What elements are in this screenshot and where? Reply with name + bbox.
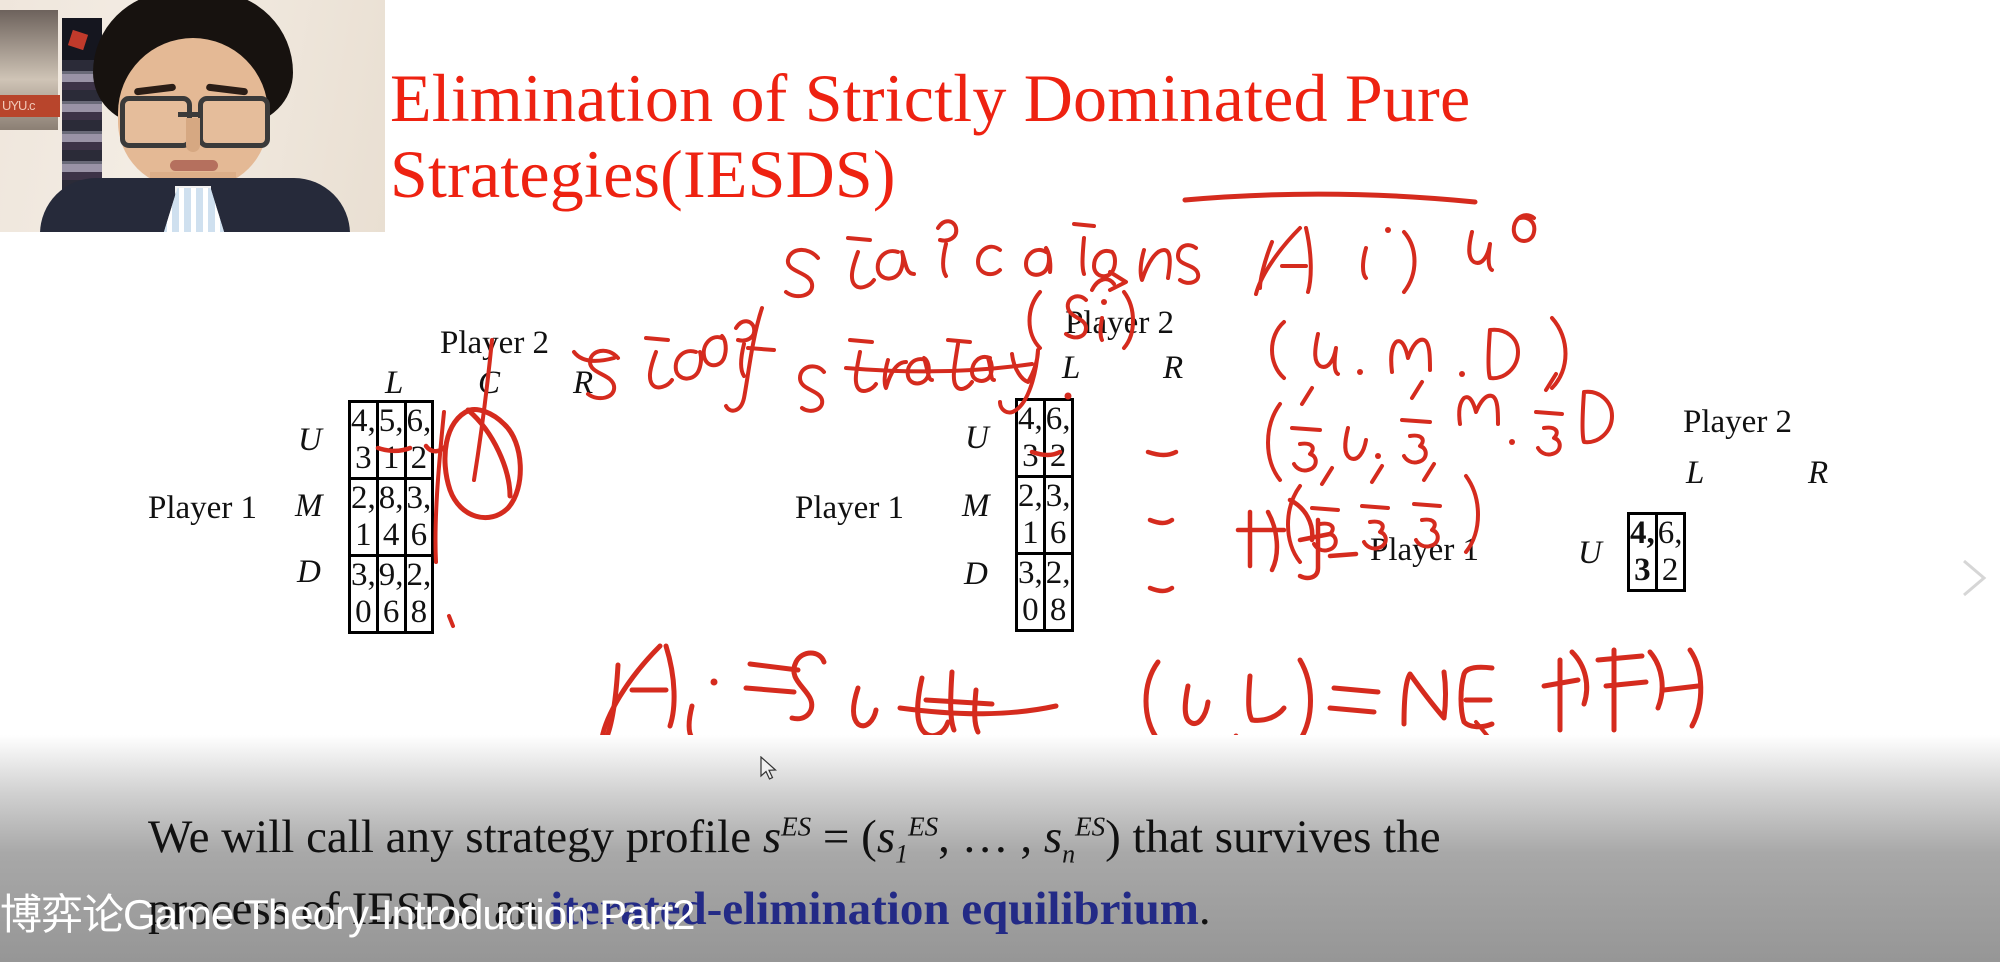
ink-Si	[1030, 292, 1134, 348]
ink-UMD	[1272, 318, 1566, 388]
ink-Ai	[1256, 227, 1415, 294]
ink-vertical-stroke-C	[435, 340, 492, 626]
body-math-s1: s	[877, 811, 895, 863]
body-math-s1-sup: ES	[908, 811, 938, 841]
body-math-sn: s	[1044, 811, 1062, 863]
ink-struck-word	[900, 672, 1056, 736]
presenter-nose	[186, 118, 200, 152]
presenter-webcam[interactable]: UYU.c	[0, 0, 385, 232]
webcam-shelf-label: UYU.c	[0, 95, 60, 117]
webcam-shelf-text: UYU.c	[0, 95, 60, 117]
body-math-sn-sub: n	[1062, 839, 1075, 868]
body-math-sn-sup: ES	[1075, 811, 1105, 841]
slide-body-line-1: We will call any strategy profile sES = …	[148, 810, 1441, 869]
ink-set-of-actions	[786, 221, 1198, 296]
ink-mixed-strategy-1	[1268, 374, 1612, 480]
ink-set-of-strategy	[574, 308, 1072, 412]
body-math-s1-sub: 1	[895, 839, 908, 868]
ink-overline	[1185, 194, 1475, 202]
ink-underline-m1-U	[378, 446, 446, 451]
ink-underline-m2-MD	[1150, 520, 1172, 591]
body-text-2b: .	[1199, 883, 1211, 935]
presenter-mouth	[170, 160, 218, 171]
presenter-glasses-right	[198, 96, 270, 148]
body-math-s-sup: ES	[781, 811, 811, 841]
ink-Ai-equals-Si	[602, 646, 876, 739]
next-slide-chevron-icon[interactable]	[1954, 555, 1994, 601]
ink-underline-m2-U	[1032, 452, 1176, 455]
ink-chinese-junheng	[1544, 650, 1701, 730]
presenter-glasses-left	[120, 96, 192, 148]
presenter-glasses-bridge	[178, 112, 200, 117]
body-text-eq: = (	[811, 811, 877, 863]
body-text-1a: We will call any strategy profile	[148, 811, 763, 863]
body-text-1b: ) that survives the	[1105, 811, 1440, 863]
mouse-cursor	[760, 756, 778, 782]
body-math-s: s	[763, 811, 781, 863]
body-text-mid: , … ,	[938, 811, 1044, 863]
video-caption: 博弈论Game Theory-Introduction Part2	[0, 894, 860, 936]
ink-union-mark	[1469, 215, 1534, 270]
presentation-stage: Elimination of Strictly Dominated Pure S…	[0, 0, 2000, 962]
